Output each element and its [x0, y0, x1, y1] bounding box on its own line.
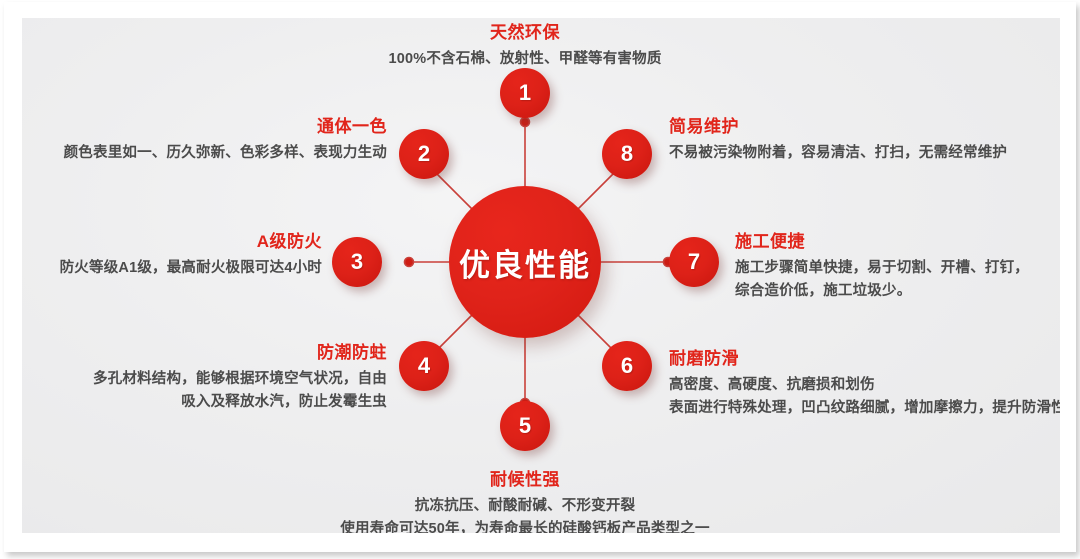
node-circle-8[interactable]: 8 [602, 129, 652, 179]
node-title-2: 通体一色 [22, 116, 387, 138]
node-number-8: 8 [621, 143, 633, 165]
node-number-5: 5 [519, 415, 531, 437]
node-desc-8-line-1: 不易被污染物附着，容易清洁、打扫，无需经常维护 [669, 142, 1060, 164]
node-desc-7-line-1: 施工步骤简单快捷，易于切割、开槽、打钉， [735, 257, 1060, 279]
node-title-3: A级防火 [22, 231, 322, 253]
node-number-2: 2 [418, 143, 430, 165]
node-desc-5-line-1: 抗冻抗压、耐酸耐碱、不形变开裂 [225, 495, 825, 517]
node-number-6: 6 [621, 355, 633, 377]
node-desc-2-line-1: 颜色表里如一、历久弥新、色彩多样、表现力生动 [22, 142, 387, 164]
node-number-1: 1 [519, 82, 531, 104]
diagram-canvas: 优良性能 1 天然环保 100%不含石棉、放射性、甲醛等有害物质 2 通体一色 … [22, 18, 1060, 533]
center-hub-label: 优良性能 [459, 240, 591, 285]
node-desc-6-line-1: 高密度、高硬度、抗磨损和划伤 [669, 374, 1060, 396]
node-circle-7[interactable]: 7 [669, 237, 719, 287]
node-text-7: 施工便捷 施工步骤简单快捷，易于切割、开槽、打钉， 综合造价低，施工垃圾少。 [735, 231, 1060, 302]
node-desc-5-line-2: 使用寿命可达50年，为寿命最长的硅酸钙板产品类型之一 [225, 518, 825, 533]
spoke-dot-1 [521, 118, 530, 127]
node-title-6: 耐磨防滑 [669, 348, 1060, 370]
spoke-line-8 [578, 169, 618, 209]
node-text-1: 天然环保 100%不含石棉、放射性、甲醛等有害物质 [275, 22, 775, 71]
node-number-7: 7 [688, 251, 700, 273]
node-desc-6-line-2: 表面进行特殊处理，凹凸纹路细腻，增加摩擦力，提升防滑性 [669, 397, 1060, 419]
node-title-8: 简易维护 [669, 116, 1060, 138]
node-circle-3[interactable]: 3 [332, 237, 382, 287]
node-text-8: 简易维护 不易被污染物附着，容易清洁、打扫，无需经常维护 [669, 116, 1060, 165]
node-circle-2[interactable]: 2 [399, 129, 449, 179]
node-number-4: 4 [418, 355, 430, 377]
node-desc-1-line-1: 100%不含石棉、放射性、甲醛等有害物质 [275, 48, 775, 70]
node-desc-3-line-1: 防火等级A1级，最高耐火极限可达4小时 [22, 257, 322, 279]
infographic-page: 优良性能 1 天然环保 100%不含石棉、放射性、甲醛等有害物质 2 通体一色 … [0, 0, 1080, 559]
node-title-7: 施工便捷 [735, 231, 1060, 253]
node-title-1: 天然环保 [275, 22, 775, 44]
node-desc-4-line-2: 吸入及释放水汽，防止发霉生虫 [22, 391, 387, 413]
node-circle-5[interactable]: 5 [500, 401, 550, 451]
node-text-3: A级防火 防火等级A1级，最高耐火极限可达4小时 [22, 231, 322, 280]
node-title-4: 防潮防蛀 [22, 342, 387, 364]
node-text-5: 耐候性强 抗冻抗压、耐酸耐碱、不形变开裂 使用寿命可达50年，为寿命最长的硅酸钙… [225, 469, 825, 533]
node-text-2: 通体一色 颜色表里如一、历久弥新、色彩多样、表现力生动 [22, 116, 387, 165]
spoke-dot-3 [405, 258, 414, 267]
center-hub[interactable]: 优良性能 [449, 186, 601, 338]
node-circle-6[interactable]: 6 [602, 341, 652, 391]
node-text-4: 防潮防蛀 多孔材料结构，能够根据环境空气状况，自由 吸入及释放水汽，防止发霉生虫 [22, 342, 387, 413]
node-desc-7-line-2: 综合造价低，施工垃圾少。 [735, 280, 1060, 302]
node-text-6: 耐磨防滑 高密度、高硬度、抗磨损和划伤 表面进行特殊处理，凹凸纹路细腻，增加摩擦… [669, 348, 1060, 419]
node-circle-1[interactable]: 1 [500, 68, 550, 118]
node-circle-4[interactable]: 4 [399, 341, 449, 391]
node-number-3: 3 [351, 251, 363, 273]
node-desc-4-line-1: 多孔材料结构，能够根据环境空气状况，自由 [22, 368, 387, 390]
spoke-line-2 [432, 169, 472, 209]
node-title-5: 耐候性强 [225, 469, 825, 491]
